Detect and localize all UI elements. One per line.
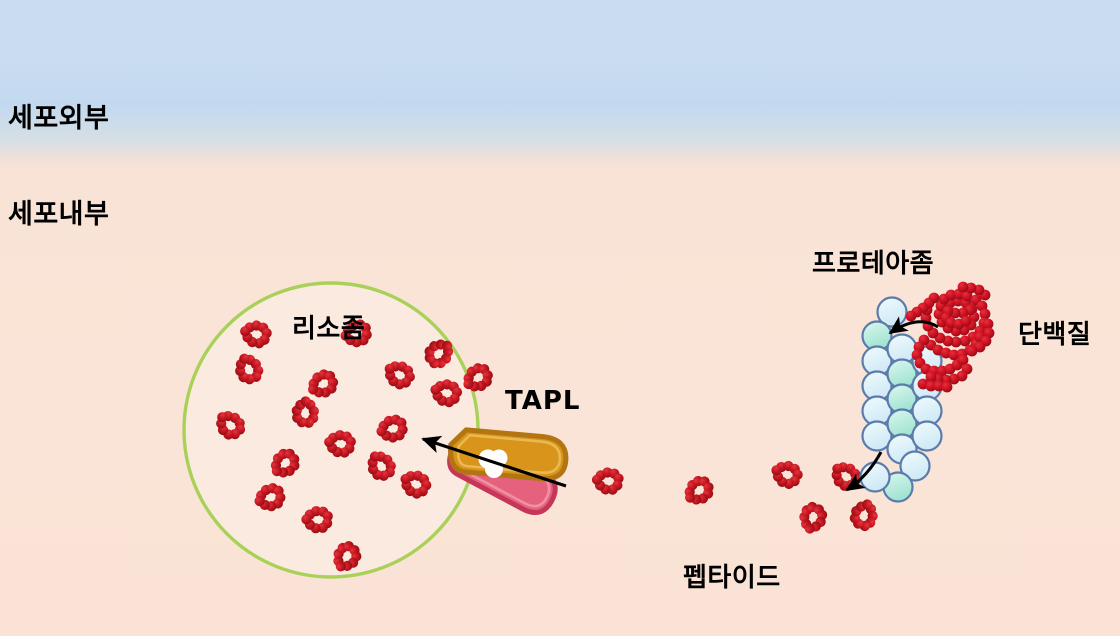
proteasome-subunit: [861, 463, 890, 492]
peptide: [795, 499, 831, 538]
peptide: [766, 455, 806, 493]
label-peptide: 펩타이드: [683, 557, 781, 594]
proteasome-subunit: [913, 422, 942, 451]
tapl-transporter[interactable]: [443, 429, 568, 520]
label-intracellular: 세포내부: [8, 192, 109, 231]
diagram-canvas: 세포외부 세포내부 리소좀 TAPL 프로테아좀 단백질 펩타이드: [0, 0, 1120, 636]
peptide: [846, 495, 882, 534]
peptide: [678, 471, 719, 511]
diagram-vector-layer: [0, 0, 1120, 636]
label-tapl: TAPL: [505, 386, 580, 416]
label-lysosome: 리소좀: [292, 308, 365, 345]
label-proteasome: 프로테아좀: [812, 243, 934, 280]
label-protein: 단백질: [1018, 314, 1091, 351]
label-extracellular: 세포외부: [8, 96, 109, 135]
peptide: [590, 465, 625, 497]
cytosol-peptide-group: [590, 455, 883, 538]
